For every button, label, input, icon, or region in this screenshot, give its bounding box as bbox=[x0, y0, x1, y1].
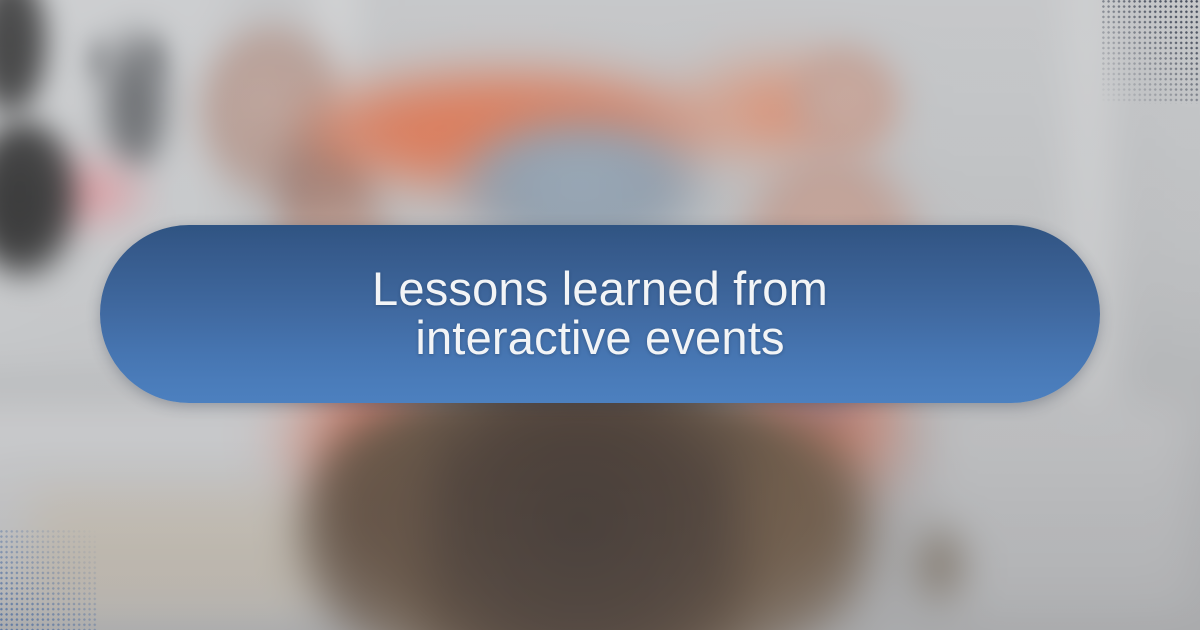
person-hair-lock-left bbox=[300, 430, 440, 630]
dark-object-prong-right bbox=[142, 28, 168, 90]
wheelchair-detail-right bbox=[905, 515, 975, 615]
person-hair-lock-right bbox=[730, 420, 890, 630]
person-hand-right bbox=[790, 45, 900, 155]
dark-object-prong-left bbox=[85, 30, 111, 90]
banner-title-text: Lessons learned from interactive events bbox=[324, 265, 876, 363]
title-pill-banner: Lessons learned from interactive events bbox=[100, 225, 1100, 403]
banner-canvas: Lessons learned from interactive events bbox=[0, 0, 1200, 630]
bench-blur bbox=[30, 490, 330, 610]
